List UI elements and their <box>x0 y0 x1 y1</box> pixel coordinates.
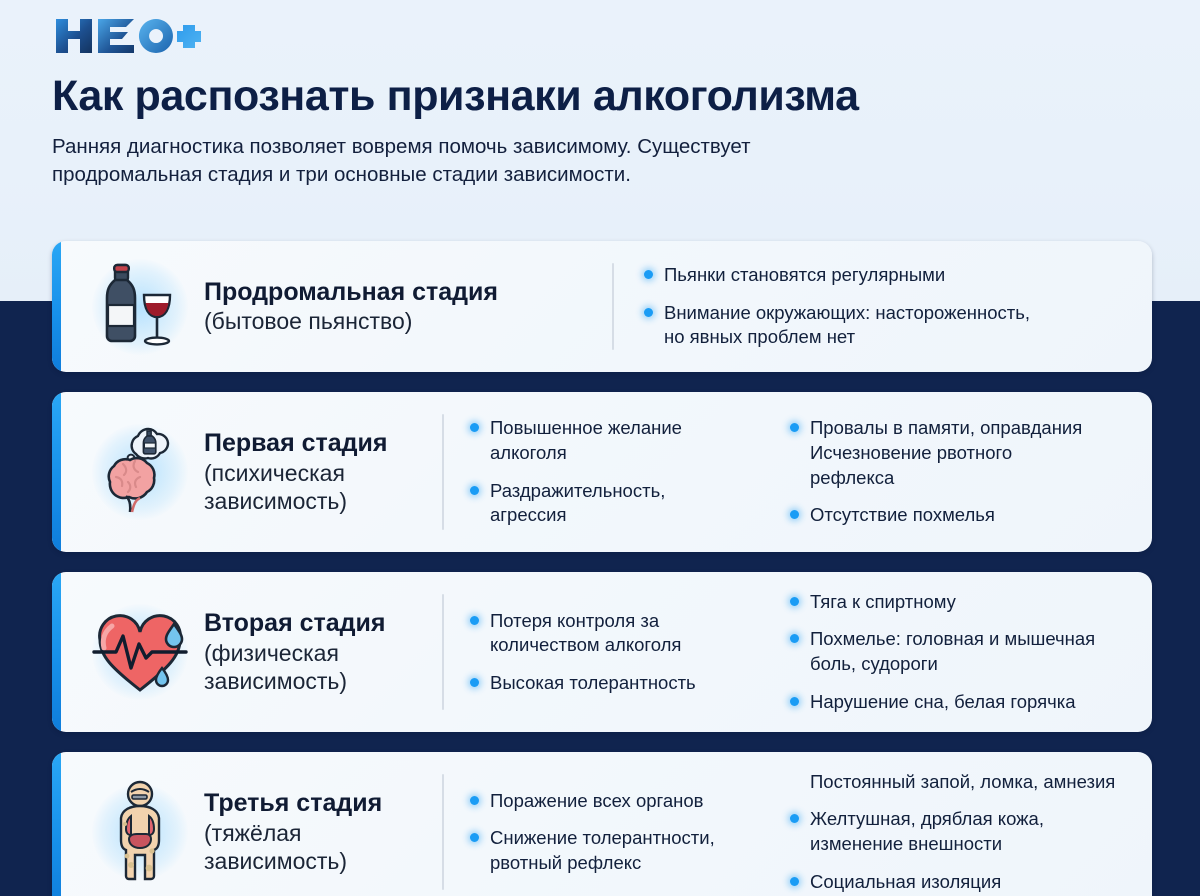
list-item-line: Внимание окружающих: настороженность, <box>664 301 1030 326</box>
bullet-dot-icon <box>790 634 799 643</box>
symptom-columns: Поражение всех органов Снижение толерант… <box>444 752 1152 896</box>
bullet-dot-icon <box>470 833 479 842</box>
list-item-line: рефлекса <box>810 466 1082 491</box>
list-item-line: Высокая толерантность <box>490 671 696 696</box>
list-item-line: Потеря контроля за <box>490 609 681 634</box>
bullet-dot-icon <box>790 814 799 823</box>
list-item: Поражение всех органов <box>470 789 790 814</box>
bullet-dot-icon <box>644 308 653 317</box>
list-item-text: Внимание окружающих: настороженность, но… <box>664 301 1030 350</box>
list-item-text: Провалы в памяти, оправдания Исчезновени… <box>810 416 1082 490</box>
stage-subtitle-line: (физическая <box>204 639 386 667</box>
list-item: Постоянный запой, ломка, амнезия <box>790 770 1134 795</box>
stage-card-first[interactable]: Первая стадия (психическая зависимость) … <box>52 392 1152 552</box>
symptom-column: Тяга к спиртному Похмелье: головная и мы… <box>790 590 1134 714</box>
list-item-line: Раздражительность, <box>490 479 665 504</box>
symptom-columns: Потеря контроля за количеством алкоголя … <box>444 572 1152 732</box>
stage-subtitle-line: (психическая <box>204 459 388 487</box>
list-item-text: Постоянный запой, ломка, амнезия <box>810 770 1115 795</box>
list-item-text: Похмелье: головная и мышечная боль, судо… <box>810 627 1095 676</box>
list-item-text: Нарушение сна, белая горячка <box>810 690 1076 715</box>
list-item-text: Потеря контроля за количеством алкоголя <box>490 609 681 658</box>
bullet-dot-icon <box>790 697 799 706</box>
list-item-line: Отсутствие похмелья <box>810 503 995 528</box>
list-item-line: рвотный рефлекс <box>490 851 715 876</box>
page-subtitle: Ранняя диагностика позволяет вовремя пом… <box>52 133 1102 190</box>
stage-text: Вторая стадия (физическая зависимость) <box>200 609 386 695</box>
symptom-column: Пьянки становятся регулярными Внимание о… <box>644 263 1134 350</box>
human-body-organs-icon <box>86 773 194 891</box>
list-item-text: Желтушная, дряблая кожа, изменение внешн… <box>810 807 1044 856</box>
bullet-dot-icon <box>470 796 479 805</box>
list-item-text: Социальная изоляция <box>810 870 1001 895</box>
stage-header: Первая стадия (психическая зависимость) <box>52 392 442 552</box>
list-item: Пьянки становятся регулярными <box>644 263 1134 288</box>
list-item: Раздражительность, агрессия <box>470 479 790 528</box>
heart-with-pulse-icon <box>86 593 194 711</box>
symptom-column: Постоянный запой, ломка, амнезия Желтушн… <box>790 770 1134 894</box>
list-item-line: количеством алкоголя <box>490 633 681 658</box>
page-header: Как распознать признаки алкоголизма Ранн… <box>0 0 1200 190</box>
list-item-line: Снижение толерантности, <box>490 826 715 851</box>
list-item-line: изменение внешности <box>810 832 1044 857</box>
stage-header: Третья стадия (тяжёлая зависимость) <box>52 752 442 896</box>
list-item-text: Тяга к спиртному <box>810 590 956 615</box>
list-item: Социальная изоляция <box>790 870 1134 895</box>
bullet-dot-icon <box>790 597 799 606</box>
stage-text: Третья стадия (тяжёлая зависимость) <box>200 789 382 875</box>
bullet-dot-icon <box>790 877 799 886</box>
stage-subtitle: (бытовое пьянство) <box>204 307 498 335</box>
list-item-text: Пьянки становятся регулярными <box>664 263 945 288</box>
list-item-line: Социальная изоляция <box>810 870 1001 895</box>
stage-name: Третья стадия <box>204 789 382 819</box>
bullet-dot-icon <box>470 678 479 687</box>
list-item-line: но явных проблем нет <box>664 325 1030 350</box>
list-item-text: Отсутствие похмелья <box>810 503 995 528</box>
stage-subtitle: (физическая зависимость) <box>204 639 386 695</box>
list-item: Повышенное желание алкоголя <box>470 416 790 465</box>
list-item-line: агрессия <box>490 503 665 528</box>
list-item-line: Постоянный запой, ломка, амнезия <box>810 770 1115 795</box>
list-item-line: алкоголя <box>490 441 682 466</box>
stage-subtitle-line: зависимость) <box>204 667 386 695</box>
wine-bottle-and-glass-icon <box>86 248 194 366</box>
symptom-column: Повышенное желание алкоголя Раздражитель… <box>470 416 790 527</box>
list-item-line: боль, судороги <box>810 652 1095 677</box>
list-item-text: Раздражительность, агрессия <box>490 479 665 528</box>
list-item: Высокая толерантность <box>470 671 790 696</box>
list-item-line: Провалы в памяти, оправдания <box>810 416 1082 441</box>
list-item: Внимание окружающих: настороженность, но… <box>644 301 1134 350</box>
stage-card-prodromal[interactable]: Продромальная стадия (бытовое пьянство) … <box>52 241 1152 372</box>
page-subtitle-line-1: Ранняя диагностика позволяет вовремя пом… <box>52 133 1102 161</box>
stage-text: Продромальная стадия (бытовое пьянство) <box>200 278 498 336</box>
symptom-columns: Пьянки становятся регулярными Внимание о… <box>614 241 1152 372</box>
list-item: Нарушение сна, белая горячка <box>790 690 1134 715</box>
list-item-line: Нарушение сна, белая горячка <box>810 690 1076 715</box>
stage-subtitle-line: зависимость) <box>204 487 388 515</box>
stage-name: Продромальная стадия <box>204 278 498 308</box>
stage-subtitle-line: зависимость) <box>204 847 382 875</box>
stage-subtitle: (психическая зависимость) <box>204 459 388 515</box>
stage-subtitle: (тяжёлая зависимость) <box>204 819 382 875</box>
list-item: Снижение толерантности, рвотный рефлекс <box>470 826 790 875</box>
list-item-line: Исчезновение рвотного <box>810 441 1082 466</box>
page-subtitle-line-2: продромальная стадия и три основные стад… <box>52 161 1102 189</box>
brain-with-bottle-thought-icon <box>86 413 194 531</box>
list-item: Отсутствие похмелья <box>790 503 1134 528</box>
list-item-text: Снижение толерантности, рвотный рефлекс <box>490 826 715 875</box>
symptom-column: Потеря контроля за количеством алкоголя … <box>470 609 790 696</box>
bullet-dot-icon <box>470 616 479 625</box>
bullet-dot-icon <box>470 423 479 432</box>
list-item-line: Поражение всех органов <box>490 789 704 814</box>
neo-plus-logo-icon <box>52 15 204 57</box>
stage-header: Продромальная стадия (бытовое пьянство) <box>52 241 612 372</box>
list-item: Провалы в памяти, оправдания Исчезновени… <box>790 416 1134 490</box>
stage-subtitle-line: (бытовое пьянство) <box>204 307 498 335</box>
list-item: Тяга к спиртному <box>790 590 1134 615</box>
symptom-column: Поражение всех органов Снижение толерант… <box>470 789 790 876</box>
symptom-column: Провалы в памяти, оправдания Исчезновени… <box>790 416 1134 527</box>
list-item: Потеря контроля за количеством алкоголя <box>470 609 790 658</box>
bullet-dot-icon <box>790 423 799 432</box>
list-item: Похмелье: головная и мышечная боль, судо… <box>790 627 1134 676</box>
stage-card-second[interactable]: Вторая стадия (физическая зависимость) П… <box>52 572 1152 732</box>
list-item-line: Пьянки становятся регулярными <box>664 263 945 288</box>
stage-subtitle-line: (тяжёлая <box>204 819 382 847</box>
list-item-text: Высокая толерантность <box>490 671 696 696</box>
stage-card-list: Продромальная стадия (бытовое пьянство) … <box>52 241 1152 896</box>
list-item-text: Повышенное желание алкоголя <box>490 416 682 465</box>
list-item-line: Повышенное желание <box>490 416 682 441</box>
list-item-line: Похмелье: головная и мышечная <box>810 627 1095 652</box>
stage-name: Первая стадия <box>204 429 388 459</box>
bullet-dot-icon <box>644 270 653 279</box>
bullet-dot-icon <box>470 486 479 495</box>
list-item-line: Желтушная, дряблая кожа, <box>810 807 1044 832</box>
brand-logo <box>52 14 1148 58</box>
list-item-text: Поражение всех органов <box>490 789 704 814</box>
symptom-columns: Повышенное желание алкоголя Раздражитель… <box>444 392 1152 552</box>
stage-header: Вторая стадия (физическая зависимость) <box>52 572 442 732</box>
stage-text: Первая стадия (психическая зависимость) <box>200 429 388 515</box>
list-item-line: Тяга к спиртному <box>810 590 956 615</box>
list-item: Желтушная, дряблая кожа, изменение внешн… <box>790 807 1134 856</box>
stage-name: Вторая стадия <box>204 609 386 639</box>
stage-card-third[interactable]: Третья стадия (тяжёлая зависимость) Пора… <box>52 752 1152 896</box>
page-title: Как распознать признаки алкоголизма <box>52 72 1148 120</box>
bullet-dot-icon <box>790 510 799 519</box>
